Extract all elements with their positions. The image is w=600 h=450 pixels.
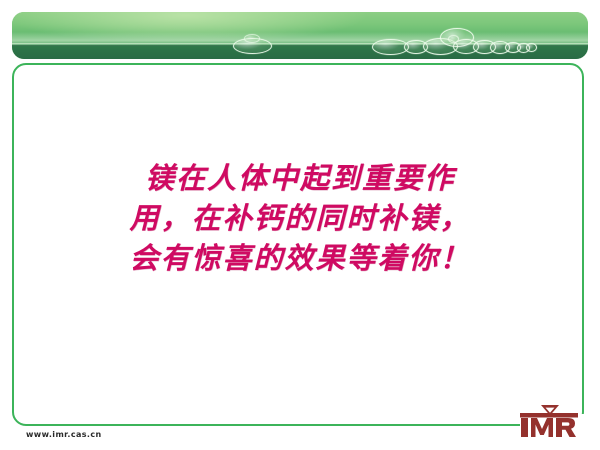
body-line-2: 用，在补钙的同时补镁，: [129, 201, 470, 235]
banner-photo: [12, 12, 588, 59]
slide-body-text: 镁在人体中起到重要作 用，在补钙的同时补镁， 会有惊喜的效果等着你！: [60, 158, 540, 278]
water-bubble-icon: [526, 43, 537, 52]
body-line-1: 镁在人体中起到重要作: [145, 161, 455, 195]
body-line-3: 会有惊喜的效果等着你！: [129, 241, 470, 275]
slide-canvas: 镁在人体中起到重要作 用，在补钙的同时补镁， 会有惊喜的效果等着你！ www.i…: [0, 0, 600, 450]
footer-website-url[interactable]: www.imr.cas.cn: [26, 430, 102, 439]
water-bubble-icon: [244, 34, 260, 43]
header-banner-image: [12, 12, 588, 59]
imr-logo: [518, 404, 580, 438]
water-bubble-icon: [448, 35, 459, 43]
imr-logo-mark: [518, 404, 580, 438]
